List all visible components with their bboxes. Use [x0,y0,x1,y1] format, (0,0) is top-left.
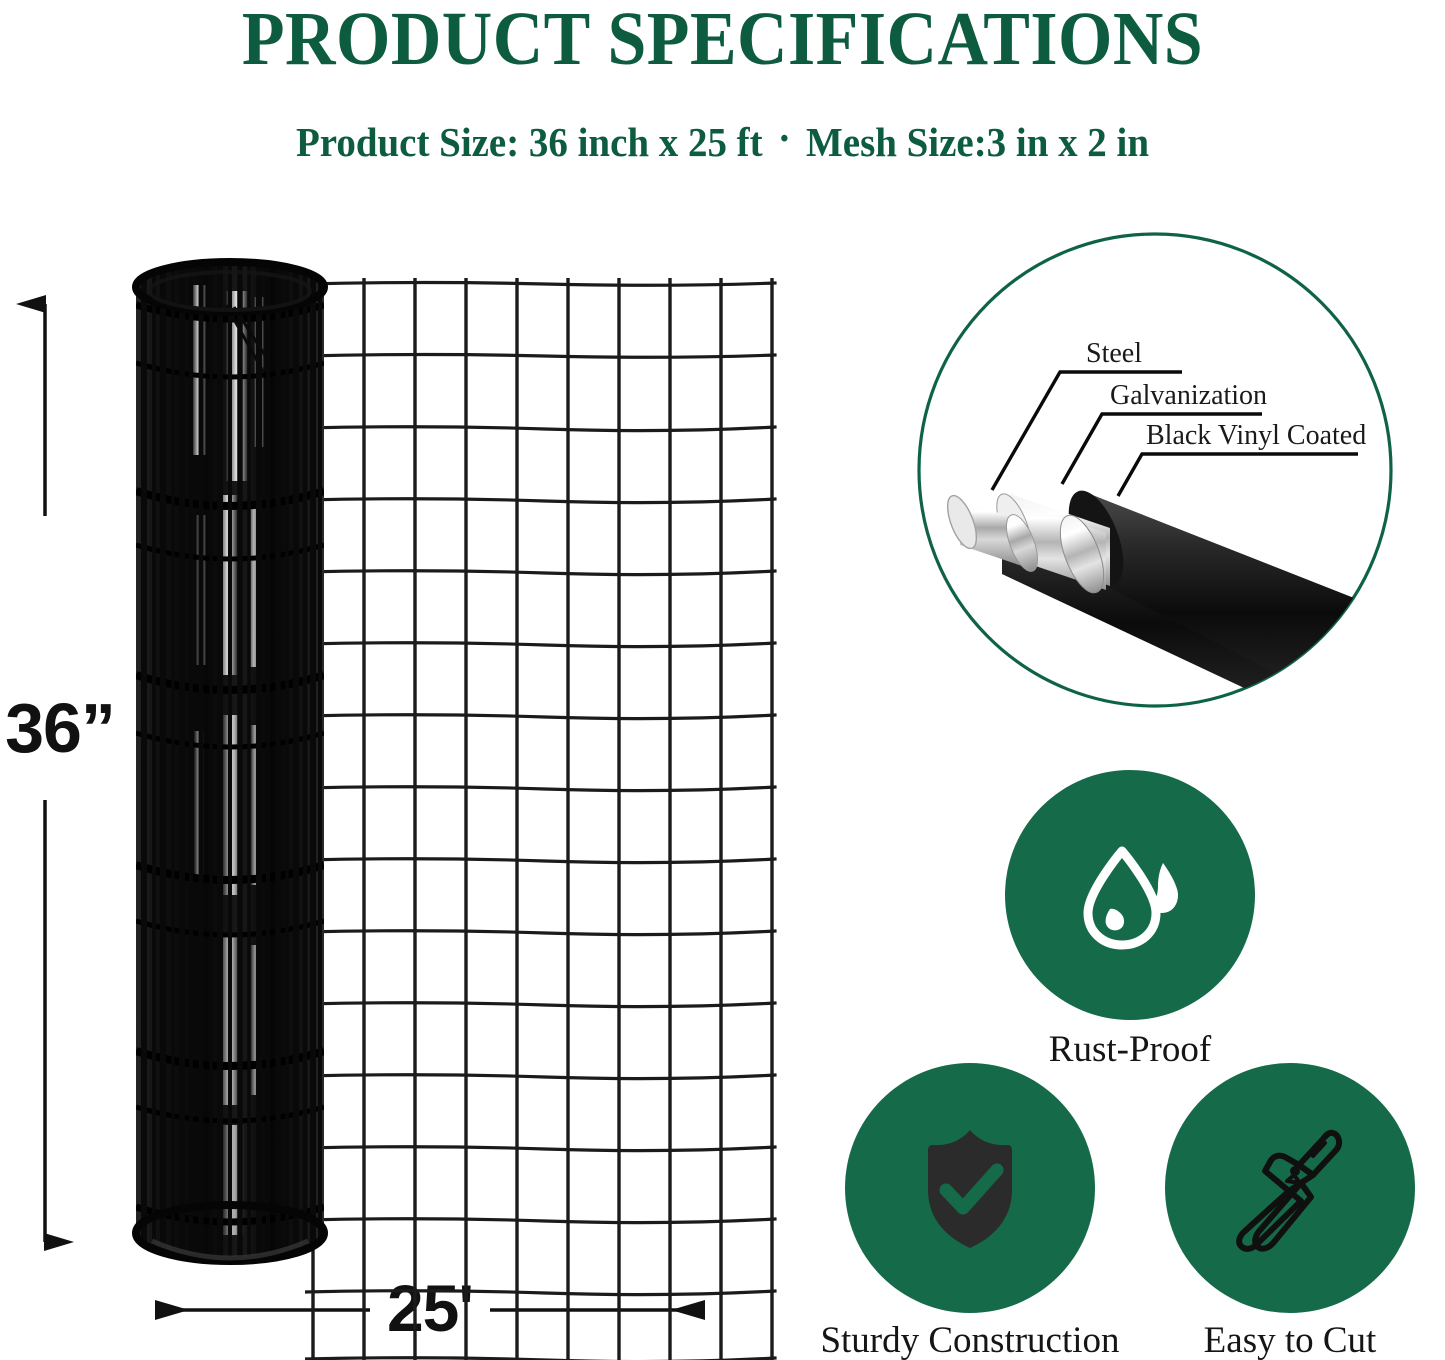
droplet-highlight [1106,909,1124,931]
water-droplet-icon [1066,831,1194,959]
wire-construction-diagram: Steel Galvanization Black Vinyl Coated [910,222,1400,718]
label-galvanization: Galvanization [1110,380,1267,411]
badge-label: Sturdy Construction [820,1319,1119,1360]
height-dimension-label: 36” [0,688,124,768]
features-panel: Steel Galvanization Black Vinyl Coated R… [810,0,1445,1360]
label-steel: Steel [1086,338,1142,369]
feature-badge-easy-to-cut: Easy to Cut [1165,1063,1415,1313]
wire-mesh-roll [130,245,330,1280]
height-dimension-arrow [10,270,90,1280]
product-dimension-panel: 36” 25' [0,200,810,1360]
feature-badge-rust-proof: Rust-Proof [1005,770,1255,1020]
droplet-large [1088,851,1156,945]
label-black-vinyl-coated: Black Vinyl Coated [1146,420,1366,451]
pliers-icon [1215,1113,1365,1263]
leader-black-vinyl [1118,454,1358,496]
product-specification-infographic: PRODUCT SPECIFICATIONS Product Size: 36 … [0,0,1445,1360]
mesh-vertical-wires [312,278,772,1360]
badge-label: Easy to Cut [1204,1319,1377,1360]
wire-mesh-grid [305,278,785,1360]
feature-badge-sturdy-construction: Sturdy Construction [845,1063,1095,1313]
mesh-horizontal-wires [305,283,775,1360]
pliers-cutter-notch [1287,1175,1300,1183]
spec-product-size: Product Size: 36 inch x 25 ft [296,119,763,165]
shield-check-icon [902,1120,1038,1256]
spec-separator-dot: · [763,114,806,162]
